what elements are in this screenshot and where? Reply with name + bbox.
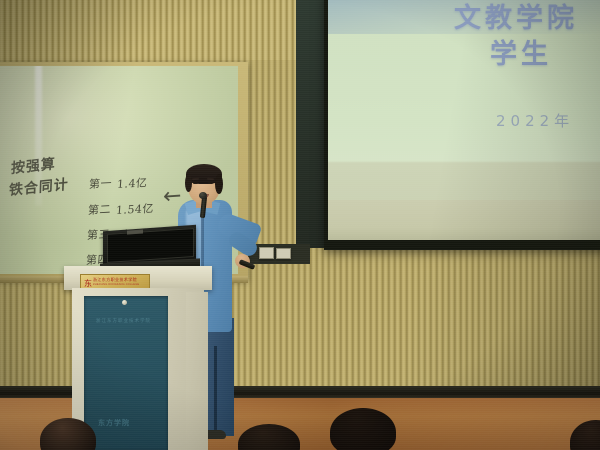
podium-side-panel xyxy=(186,292,208,450)
podium-front-panel: 浙江东方职业技术学院 东方学院 xyxy=(84,296,168,450)
speaker-eye-left xyxy=(193,182,198,184)
podium-panel-text: 浙江东方职业技术学院 xyxy=(96,318,151,324)
podium-panel-logo: 东方学院 xyxy=(98,418,130,428)
speaker-hair-right xyxy=(215,174,223,194)
audience-head-3 xyxy=(330,408,396,450)
lecture-hall-photo: 文教学院 学生 2022年 按强算 铁合同计 第一 1.4亿 第二 1.54亿 … xyxy=(0,0,600,450)
podium-knob xyxy=(122,300,127,305)
speaker-leg-seam xyxy=(214,346,217,436)
microphone-capsule xyxy=(199,192,207,199)
speaker-hair-left xyxy=(185,174,192,192)
laptop-bezel xyxy=(107,228,194,263)
podium-plaque-subtext: ZHEJIANG DONGFANG COLLEGE xyxy=(93,283,139,286)
speaker-eye-right xyxy=(208,182,213,184)
